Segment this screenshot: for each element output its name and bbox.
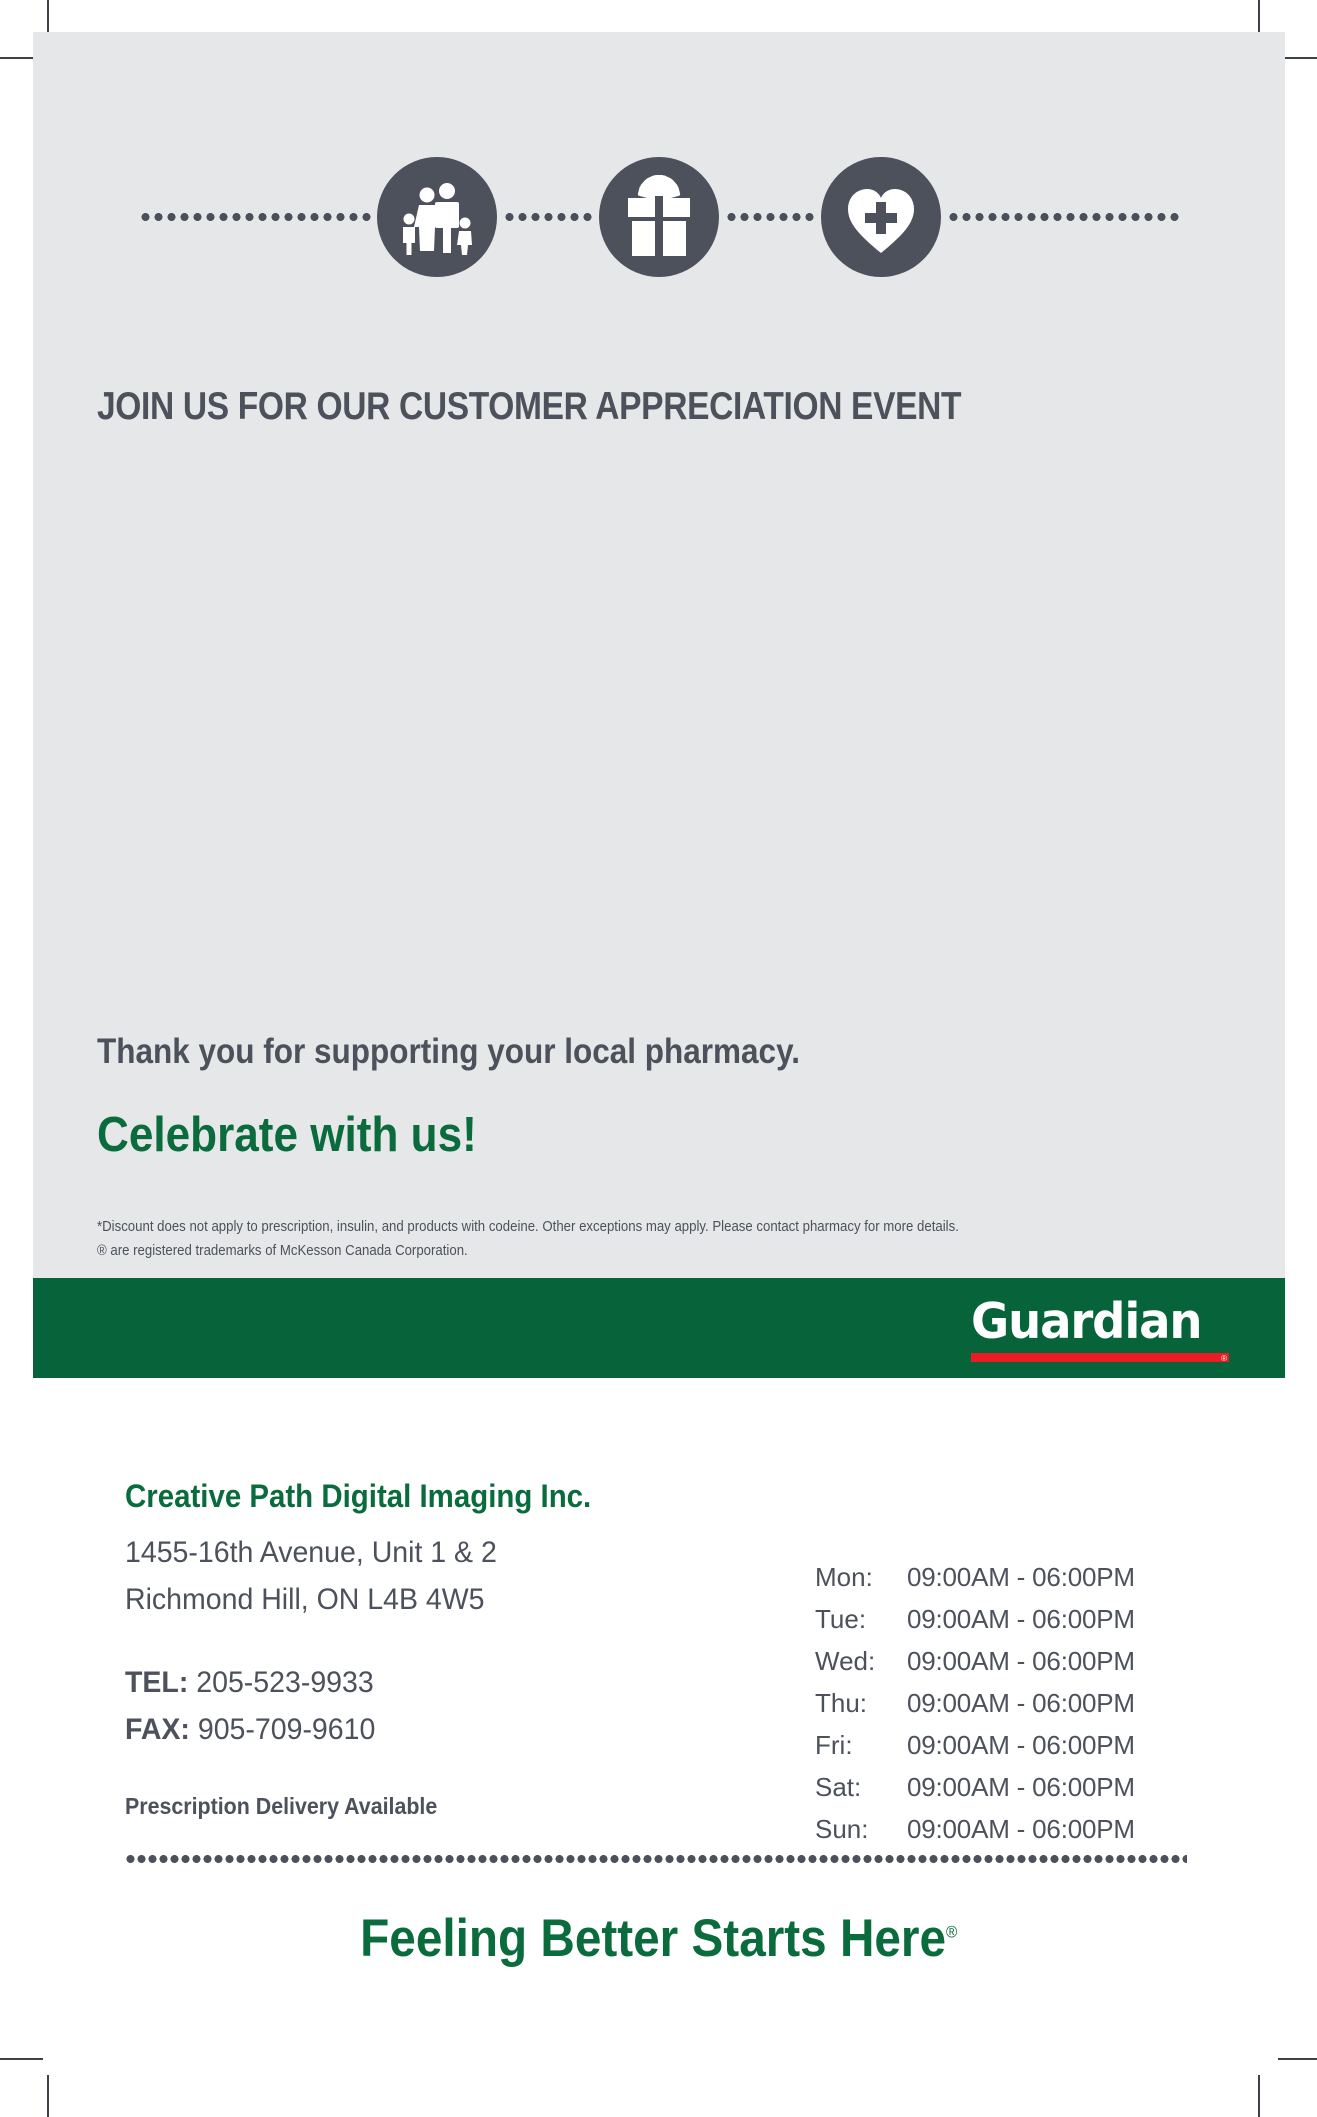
store-contact: TEL: 205-523-9933 FAX: 905-709-9610 <box>125 1659 805 1753</box>
store-address-line-2: Richmond Hill, ON L4B 4W5 <box>125 1576 771 1623</box>
brand-bar: Guardian ® <box>33 1278 1285 1378</box>
telephone-value[interactable]: 205-523-9933 <box>196 1666 373 1699</box>
thank-you-text: Thank you for supporting your local phar… <box>97 1032 800 1072</box>
hours-day: Tue: <box>815 1598 907 1640</box>
flyer-page: JOIN US FOR OUR CUSTOMER APPRECIATION EV… <box>0 0 1317 2117</box>
hours-time: 09:00AM - 06:00PM <box>907 1682 1135 1724</box>
guardian-logo: Guardian ® <box>971 1295 1229 1362</box>
page-title: JOIN US FOR OUR CUSTOMER APPRECIATION EV… <box>97 385 961 429</box>
hours-day: Sat: <box>815 1766 907 1808</box>
hours-day: Sun: <box>815 1808 907 1850</box>
crop-mark-bottom-left-horizontal <box>0 2058 43 2060</box>
store-fax: FAX: 905-709-9610 <box>125 1706 771 1753</box>
hero-panel: JOIN US FOR OUR CUSTOMER APPRECIATION EV… <box>33 32 1285 1278</box>
hours-time: 09:00AM - 06:00PM <box>907 1598 1135 1640</box>
hours-time: 09:00AM - 06:00PM <box>907 1724 1135 1766</box>
guardian-logo-underline: ® <box>971 1353 1229 1362</box>
hours-row: Sun:09:00AM - 06:00PM <box>815 1808 1135 1850</box>
hours-row: Wed:09:00AM - 06:00PM <box>815 1640 1135 1682</box>
celebrate-heading: Celebrate with us! <box>97 1107 477 1163</box>
store-info: Creative Path Digital Imaging Inc. 1455-… <box>125 1478 805 1820</box>
tagline-text: Feeling Better Starts Here <box>360 1909 946 1968</box>
hours-time: 09:00AM - 06:00PM <box>907 1766 1135 1808</box>
dotted-rule-mid-left <box>503 213 593 221</box>
gift-icon <box>599 157 719 277</box>
tagline-registered-mark: ® <box>946 1922 957 1941</box>
hours-row: Fri:09:00AM - 06:00PM <box>815 1724 1135 1766</box>
dotted-rule-left <box>139 213 371 221</box>
tagline: Feeling Better Starts Here® <box>0 1908 1317 1969</box>
heart-plus-icon <box>821 157 941 277</box>
fax-value: 905-709-9610 <box>198 1713 375 1746</box>
hours-day: Fri: <box>815 1724 907 1766</box>
store-telephone: TEL: 205-523-9933 <box>125 1659 771 1706</box>
fine-print-line-1: *Discount does not apply to prescription… <box>97 1215 959 1239</box>
dotted-rule-right <box>947 213 1179 221</box>
crop-mark-bottom-right-vertical <box>1258 2075 1260 2117</box>
hours-day: Wed: <box>815 1640 907 1682</box>
crop-mark-bottom-right-horizontal <box>1278 2058 1317 2060</box>
dotted-rule-mid-right <box>725 213 815 221</box>
dotted-divider-bottom <box>125 1855 1187 1863</box>
hours-time: 09:00AM - 06:00PM <box>907 1556 1135 1598</box>
store-name: Creative Path Digital Imaging Inc. <box>125 1478 751 1515</box>
fine-print: *Discount does not apply to prescription… <box>97 1215 959 1263</box>
registered-mark: ® <box>1221 1354 1227 1363</box>
hours-day: Mon: <box>815 1556 907 1598</box>
fax-label: FAX: <box>125 1713 190 1746</box>
hours-row: Sat:09:00AM - 06:00PM <box>815 1766 1135 1808</box>
fine-print-line-2: ® are registered trademarks of McKesson … <box>97 1239 959 1263</box>
crop-mark-bottom-left-vertical <box>47 2075 49 2117</box>
hours-row: Thu:09:00AM - 06:00PM <box>815 1682 1135 1724</box>
hours-row: Mon:09:00AM - 06:00PM <box>815 1556 1135 1598</box>
hours-day: Thu: <box>815 1682 907 1724</box>
store-hours-table: Mon:09:00AM - 06:00PMTue:09:00AM - 06:00… <box>815 1556 1135 1850</box>
telephone-label: TEL: <box>125 1666 188 1699</box>
hours-time: 09:00AM - 06:00PM <box>907 1808 1135 1850</box>
hours-row: Tue:09:00AM - 06:00PM <box>815 1598 1135 1640</box>
delivery-note: Prescription Delivery Available <box>125 1793 757 1820</box>
hours-time: 09:00AM - 06:00PM <box>907 1640 1135 1682</box>
icon-strip <box>33 152 1285 282</box>
family-icon <box>377 157 497 277</box>
store-address-line-1: 1455-16th Avenue, Unit 1 & 2 <box>125 1529 771 1576</box>
guardian-logo-wordmark: Guardian <box>971 1295 1216 1349</box>
